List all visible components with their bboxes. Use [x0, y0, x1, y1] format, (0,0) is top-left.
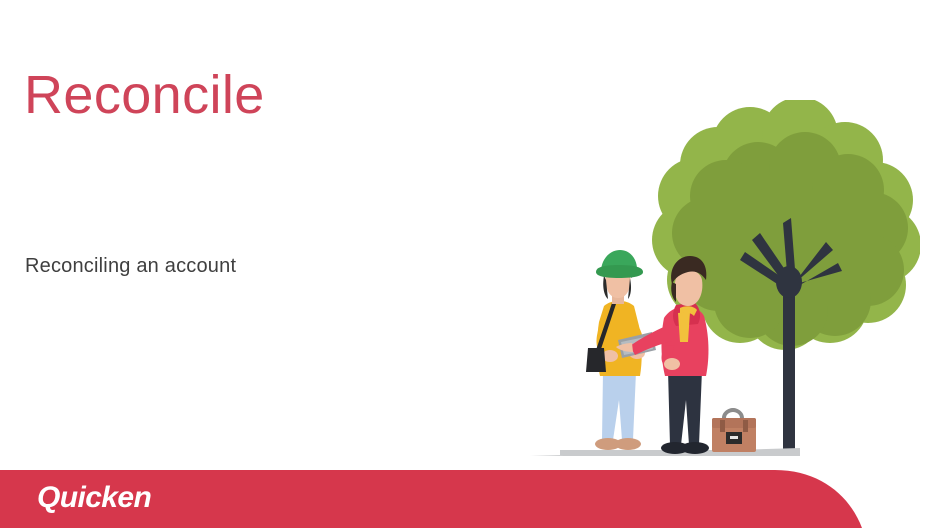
- briefcase-icon: [712, 408, 756, 452]
- page-title: Reconcile: [24, 66, 265, 125]
- presentation-slide: Reconcile Reconciling an account: [0, 0, 940, 528]
- slide-subtitle: Reconciling an account: [25, 255, 236, 278]
- illustration-two-people-under-tree: [500, 100, 920, 470]
- hat-icon: [596, 250, 643, 278]
- quicken-logo: Quicken: [37, 481, 151, 515]
